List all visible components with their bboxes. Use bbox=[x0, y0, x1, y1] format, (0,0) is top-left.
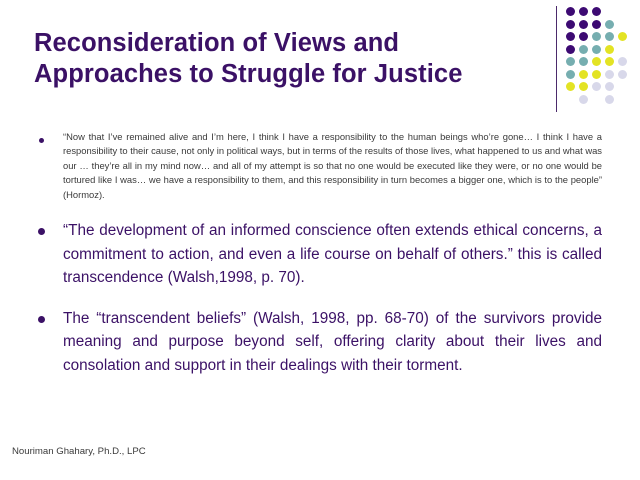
dot-lavender bbox=[618, 70, 627, 79]
dot-lavender bbox=[605, 70, 614, 79]
dot-purple bbox=[592, 20, 601, 29]
dot-teal bbox=[579, 45, 588, 54]
dot-teal bbox=[566, 70, 575, 79]
bullet-text-1: “Now that I’ve remained alive and I’m he… bbox=[63, 130, 602, 202]
dot-purple bbox=[566, 7, 575, 16]
list-item: “Now that I’ve remained alive and I’m he… bbox=[0, 130, 640, 202]
dot-yellow bbox=[592, 57, 601, 66]
dot-purple bbox=[592, 7, 601, 16]
title-line-1: Reconsideration of Views and bbox=[34, 28, 534, 59]
dot-purple bbox=[579, 20, 588, 29]
dot-yellow bbox=[566, 82, 575, 91]
dot-teal bbox=[579, 57, 588, 66]
dot-yellow bbox=[592, 70, 601, 79]
vertical-divider-line bbox=[556, 6, 557, 112]
dot-teal bbox=[566, 57, 575, 66]
bullet-text-3: The “transcendent beliefs” (Walsh, 1998,… bbox=[63, 307, 602, 378]
dot-lavender bbox=[579, 95, 588, 104]
dot-yellow bbox=[605, 45, 614, 54]
dot-purple bbox=[579, 7, 588, 16]
title-line-2: Approaches to Struggle for Justice bbox=[34, 59, 534, 90]
dot-purple bbox=[566, 20, 575, 29]
dot-purple bbox=[579, 32, 588, 41]
dot-lavender bbox=[605, 82, 614, 91]
dot-purple bbox=[566, 45, 575, 54]
slide-footer-author: Nouriman Ghahary, Ph.D., LPC bbox=[12, 446, 146, 457]
dot-yellow bbox=[618, 32, 627, 41]
dot-teal bbox=[592, 32, 601, 41]
dot-yellow bbox=[579, 70, 588, 79]
dot-grid bbox=[566, 7, 638, 109]
dot-teal bbox=[592, 45, 601, 54]
slide-canvas: Reconsideration of Views and Approaches … bbox=[0, 0, 640, 480]
dot-lavender bbox=[605, 95, 614, 104]
content-body: “Now that I’ve remained alive and I’m he… bbox=[0, 130, 640, 377]
bullet-text-2: “The development of an informed conscien… bbox=[63, 219, 602, 290]
dot-purple bbox=[566, 32, 575, 41]
page-title: Reconsideration of Views and Approaches … bbox=[34, 28, 534, 90]
decorative-dot-motif bbox=[556, 4, 640, 112]
dot-yellow bbox=[579, 82, 588, 91]
dot-teal bbox=[605, 20, 614, 29]
list-item: The “transcendent beliefs” (Walsh, 1998,… bbox=[0, 307, 640, 378]
dot-teal bbox=[605, 32, 614, 41]
bullet-marker-icon bbox=[39, 138, 44, 143]
dot-lavender bbox=[618, 57, 627, 66]
bullet-marker-icon bbox=[38, 228, 45, 235]
bullet-marker-icon bbox=[38, 316, 45, 323]
dot-yellow bbox=[605, 57, 614, 66]
list-item: “The development of an informed conscien… bbox=[0, 219, 640, 290]
dot-lavender bbox=[592, 82, 601, 91]
